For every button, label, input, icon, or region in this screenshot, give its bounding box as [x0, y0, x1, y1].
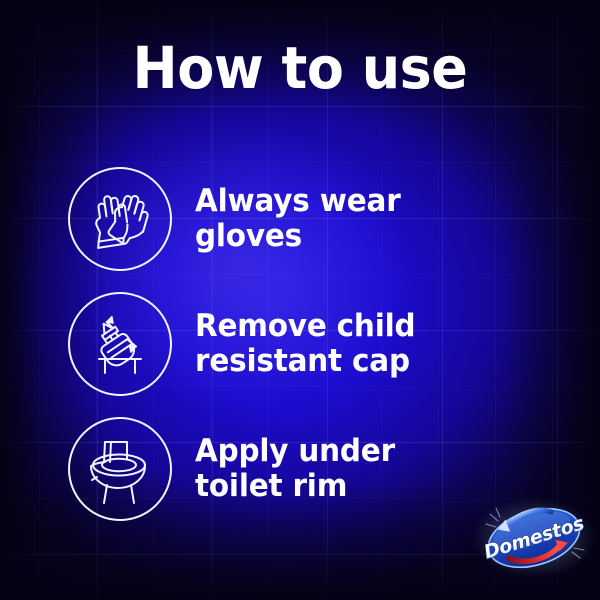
step-label-3: Apply under toilet rim	[195, 434, 395, 504]
domestos-logo: Domestos	[472, 498, 596, 578]
gloves-icon	[68, 167, 172, 271]
step-item-2: Remove child resistant cap	[0, 281, 600, 406]
step-label-2: Remove child resistant cap	[195, 309, 415, 379]
step-label-1: Always wear gloves	[195, 184, 401, 254]
steps-list: Always wear gloves	[0, 156, 600, 531]
step-item-1: Always wear gloves	[0, 156, 600, 281]
page-title: How to use	[21, 36, 579, 100]
how-to-use-poster: How to use	[0, 0, 600, 600]
twist-cap-icon	[68, 292, 172, 396]
toilet-rim-icon	[68, 417, 172, 521]
